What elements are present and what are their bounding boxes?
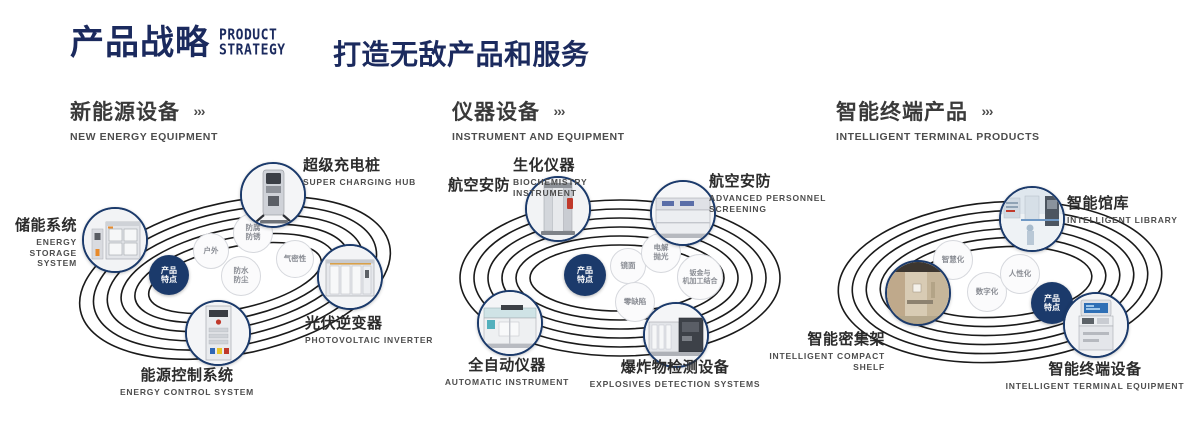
section-title-cn: 智能终端产品 [836,96,968,126]
label-biochemistry-instrument: 生化仪器 BIOCHEMISTRY INSTRUMENT [513,154,613,198]
label-cn: 智能馆库 [1067,192,1197,213]
node-photovoltaic-inverter[interactable] [317,244,383,310]
node-intelligent-library[interactable] [999,186,1065,252]
label-en: ENERGY STORAGE SYSTEM [0,237,77,269]
section-title-new-energy: 新能源设备 ››› NEW ENERGY EQUIPMENT [70,96,218,143]
cluster-new-energy: 产品 特点 户外 防腐 防锈 防水 防尘 气密性 [55,160,415,390]
label-cn: 全自动仪器 [417,354,597,375]
label-cn: 能源控制系统 [87,364,287,385]
label-en: ENERGY CONTROL SYSTEM [87,387,287,398]
core-bubble-line2: 特点 [1044,303,1060,312]
label-aviation-security-left: 航空安防 [390,174,510,195]
label-cn: 超级充电桩 [303,154,423,175]
label-photovoltaic-inverter: 光伏逆变器 PHOTOVOLTAIC INVERTER [305,312,435,346]
poster-canvas: 产品战略 PRODUCT STRATEGY 打造无敌产品和服务 新能源设备 ››… [0,0,1200,422]
page-title-en-line2: STRATEGY [219,43,286,58]
page-title-en: PRODUCT STRATEGY [219,28,286,58]
chevron-right-icon: ››› [553,103,564,119]
ev-charging-pile-icon [242,164,304,226]
label-energy-storage: 储能系统 ENERGY STORAGE SYSTEM [0,214,77,269]
compact-shelving-icon [887,262,949,324]
core-bubble-line2: 特点 [161,275,177,284]
node-intelligent-compact-shelf[interactable] [885,260,951,326]
pv-inverter-cabinet-icon [319,246,381,308]
label-cn: 光伏逆变器 [305,312,435,333]
core-bubble-line1: 产品 [161,266,177,275]
section-title-cn: 新能源设备 [70,96,180,126]
feature-bubble-waterproof: 防水 防尘 [221,256,261,296]
node-super-charging-hub[interactable] [240,162,306,228]
label-intelligent-library: 智能馆库 INTELLIGENT LIBRARY [1067,192,1197,226]
label-en: INTELLIGENT TERMINAL EQUIPMENT [995,381,1195,392]
section-title-en: NEW ENERGY EQUIPMENT [70,131,218,143]
core-bubble: 产品 特点 [149,255,189,295]
label-en: PHOTOVOLTAIC INVERTER [305,335,435,346]
page-slogan: 打造无敌产品和服务 [333,33,590,73]
feature-bubble-airtight: 气密性 [276,240,314,278]
label-en: BIOCHEMISTRY INSTRUMENT [513,177,613,198]
label-cn: 智能密集架 [735,328,885,349]
cluster-intelligent-terminal: 智慧化 数字化 人性化 产品 特点 [815,160,1185,400]
feature-bubble-sheetmetal-machining: 钣金与 机加工结合 [677,254,723,300]
chevron-right-icon: ››› [981,103,992,119]
section-title-cn: 仪器设备 [452,96,540,126]
label-en: AUTOMATIC INSTRUMENT [417,377,597,388]
chevron-right-icon: ››› [193,103,204,119]
screening-machine-icon [652,182,714,244]
core-bubble-line1: 产品 [577,266,593,275]
node-energy-storage[interactable] [82,207,148,273]
page-title-cn: 产品战略 [70,26,210,60]
label-en: EXPLOSIVES DETECTION SYSTEMS [585,379,765,390]
label-cn: 航空安防 [390,174,510,195]
label-automatic-instrument: 全自动仪器 AUTOMATIC INSTRUMENT [417,354,597,388]
node-intelligent-terminal-equipment[interactable] [1063,292,1129,358]
node-advanced-personnel-screening[interactable] [650,180,716,246]
section-title-instrument: 仪器设备 ››› INSTRUMENT AND EQUIPMENT [452,96,625,143]
label-cn: 生化仪器 [513,154,613,175]
label-intelligent-compact-shelf: 智能密集架 INTELLIGENT COMPACT SHELF [735,328,885,372]
section-title-en: INSTRUMENT AND EQUIPMENT [452,131,625,143]
section-title-intelligent-terminal: 智能终端产品 ››› INTELLIGENT TERMINAL PRODUCTS [836,96,1040,143]
core-bubble-line2: 特点 [577,275,593,284]
section-title-en: INTELLIGENT TERMINAL PRODUCTS [836,131,1040,143]
page-title-en-line1: PRODUCT [219,28,286,43]
label-en: INTELLIGENT COMPACT SHELF [735,351,885,372]
core-bubble-line1: 产品 [1044,294,1060,303]
label-intelligent-terminal-equipment: 智能终端设备 INTELLIGENT TERMINAL EQUIPMENT [995,358,1195,392]
label-cn: 储能系统 [0,214,77,235]
self-service-kiosk-icon [1065,294,1127,356]
page-title: 产品战略 PRODUCT STRATEGY [70,26,286,60]
label-cn: 智能终端设备 [995,358,1195,379]
library-interior-icon [1001,188,1063,250]
control-cabinet-icon [187,302,249,364]
core-bubble: 产品 特点 [564,254,606,296]
energy-storage-cabinet-icon [84,209,146,271]
node-automatic-instrument[interactable] [477,290,543,356]
label-energy-control-system: 能源控制系统 ENERGY CONTROL SYSTEM [87,364,287,398]
feature-bubble-humanized: 人性化 [1000,254,1040,294]
label-en: INTELLIGENT LIBRARY [1067,215,1197,226]
automatic-analyzer-icon [479,292,541,354]
node-energy-control-system[interactable] [185,300,251,366]
